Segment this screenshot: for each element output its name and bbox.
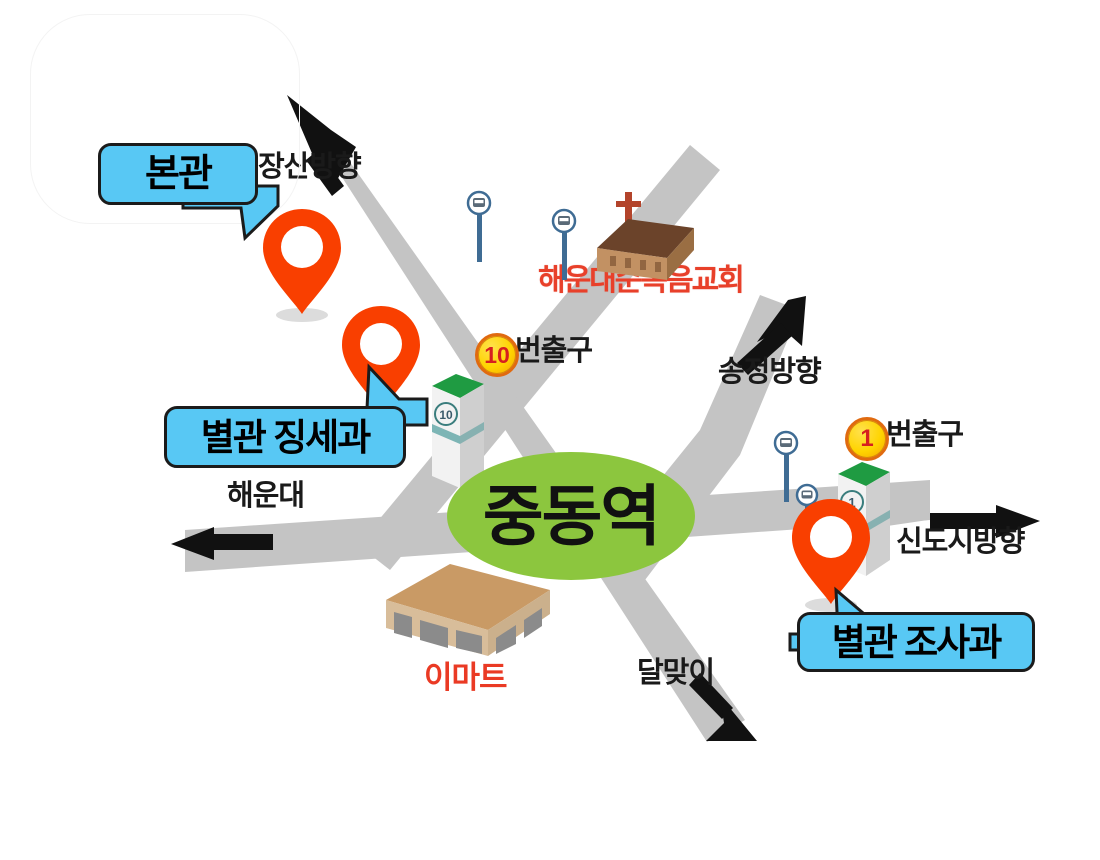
exit-1-label: 번출구 [886,421,963,450]
bus-stop-1[interactable] [465,190,495,262]
exit-badge-10-number: 10 [484,342,510,369]
station-name: 중동역 [483,483,659,549]
direction-label-songjeong: 송정방향 [718,358,821,387]
exit-badge-1-number: 1 [860,425,873,453]
map-canvas: 중동역 해운대순복음교회 [0,0,1100,860]
callout-annex-tax-dept[interactable]: 별관 징세과 [164,406,406,468]
bus-stop-icon [550,208,580,280]
callout-main-building[interactable]: 본관 [98,143,258,205]
station-label-jungdong[interactable]: 중동역 [447,452,695,580]
bus-stop-icon [465,190,495,262]
callout-annex-tax-dept-label: 별관 징세과 [201,419,369,456]
callout-main-building-label: 본관 [145,155,211,193]
bus-stop-2[interactable] [550,208,580,280]
landmark-church[interactable] [570,192,700,292]
svg-text:10: 10 [439,408,453,422]
church-icon [570,192,700,292]
callout-annex-audit-dept[interactable]: 별관 조사과 [797,612,1035,672]
exit-10-label: 번출구 [515,337,592,366]
exit-badge-10[interactable]: 10 [475,333,519,377]
direction-label-dalmaji: 달맞이 [637,659,714,688]
arrow-haeundae [171,527,273,560]
direction-label-haeundae: 해운대 [227,482,304,511]
callout-annex-audit-dept-label: 별관 조사과 [832,624,1000,661]
exit-badge-1[interactable]: 1 [845,417,889,461]
